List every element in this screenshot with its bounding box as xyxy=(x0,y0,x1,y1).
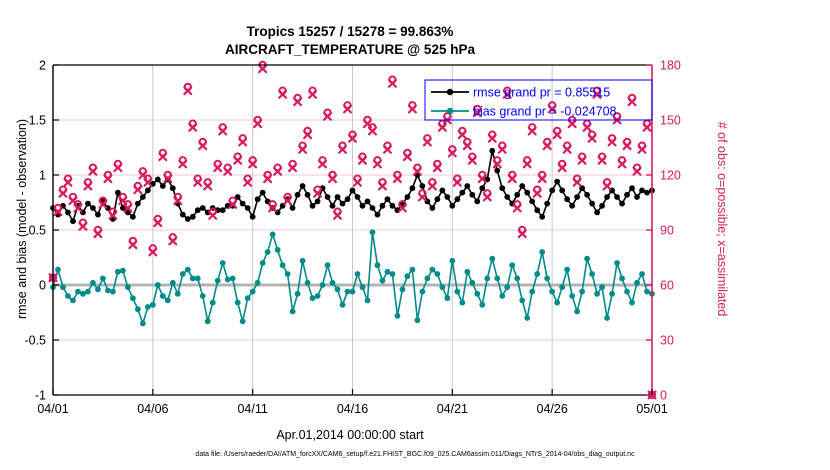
bias-point xyxy=(120,268,126,274)
bias-point xyxy=(150,302,156,308)
obs-assimilated-marker xyxy=(319,161,326,168)
obs-assimilated-marker xyxy=(339,146,346,153)
bias-point xyxy=(589,271,595,277)
rmse-point xyxy=(325,194,331,200)
bias-point xyxy=(479,302,485,308)
obs-assimilated-marker xyxy=(129,241,136,248)
rmse-point xyxy=(474,199,480,205)
rmse-point xyxy=(130,214,136,220)
rmse-point xyxy=(634,194,640,200)
bias-point xyxy=(449,258,455,264)
obs-assimilated-marker xyxy=(274,168,281,175)
legend-item-rmse-swatch-marker xyxy=(447,89,453,95)
obs-assimilated-marker xyxy=(194,179,201,186)
bias-point xyxy=(190,276,196,282)
bias-point xyxy=(514,276,520,282)
obs-assimilated-marker xyxy=(259,65,266,72)
rmse-point xyxy=(90,205,96,211)
bias-point xyxy=(260,260,266,266)
obs-assimilated-marker xyxy=(569,120,576,127)
obs-assimilated-marker xyxy=(134,186,141,193)
obs-assimilated-marker xyxy=(199,142,206,149)
y-axis-left-tick: -1 xyxy=(35,389,46,403)
obs-assimilated-marker xyxy=(419,194,426,201)
rmse-point xyxy=(335,194,341,200)
rmse-point xyxy=(380,203,386,209)
y-axis-left-tick: 1.5 xyxy=(29,114,46,128)
y-axis-left-tick: 2 xyxy=(39,59,46,73)
bias-point xyxy=(305,280,311,286)
obs-assimilated-marker xyxy=(344,106,351,113)
x-axis-tick: 04/06 xyxy=(137,402,168,416)
rmse-point xyxy=(594,210,600,216)
bias-point xyxy=(529,289,535,295)
obs-assimilated-marker xyxy=(454,179,461,186)
bias-point xyxy=(380,278,386,284)
rmse-point xyxy=(410,185,416,191)
bias-point xyxy=(270,232,276,238)
obs-assimilated-marker xyxy=(60,190,67,197)
rmse-point xyxy=(489,148,495,154)
obs-assimilated-marker xyxy=(309,91,316,98)
bias-point xyxy=(564,267,570,273)
bias-point xyxy=(80,291,86,297)
rmse-point xyxy=(375,212,381,218)
bias-point xyxy=(265,249,271,255)
bias-point xyxy=(245,295,251,301)
x-axis-tick: 04/01 xyxy=(37,402,68,416)
bias-point xyxy=(205,318,211,324)
obs-assimilated-marker xyxy=(80,223,87,230)
obs-assimilated-marker xyxy=(644,124,651,131)
obs-assimilated-marker xyxy=(364,120,371,127)
y-axis-right-tick: 150 xyxy=(660,114,681,128)
bias-point xyxy=(340,302,346,308)
obs-assimilated-marker xyxy=(159,153,166,160)
bias-point xyxy=(75,289,81,295)
obs-assimilated-marker xyxy=(514,205,521,212)
obs-assimilated-marker xyxy=(244,179,251,186)
obs-assimilated-marker xyxy=(484,194,491,201)
bias-point xyxy=(385,269,391,275)
obs-assimilated-marker xyxy=(429,183,436,190)
rmse-point xyxy=(624,192,630,198)
bias-point xyxy=(300,258,306,264)
bias-point xyxy=(330,280,336,286)
obs-assimilated-marker xyxy=(369,128,376,135)
rmse-point xyxy=(514,192,520,198)
bias-point xyxy=(315,293,321,299)
rmse-point xyxy=(220,207,226,213)
bias-point xyxy=(624,289,630,295)
bias-point xyxy=(464,269,470,275)
bias-point xyxy=(614,260,620,266)
bias-point xyxy=(325,262,331,268)
bias-point xyxy=(220,260,226,266)
obs-assimilated-marker xyxy=(609,139,616,146)
rmse-point xyxy=(554,179,560,185)
obs-assimilated-marker xyxy=(294,98,301,105)
bias-point xyxy=(414,317,420,323)
obs-assimilated-marker xyxy=(324,113,331,120)
x-axis-tick: 04/21 xyxy=(437,402,468,416)
rmse-point xyxy=(444,194,450,200)
bias-point xyxy=(424,276,430,282)
obs-assimilated-marker xyxy=(70,197,77,204)
rmse-point xyxy=(564,196,570,202)
rmse-point xyxy=(190,214,196,220)
bias-point xyxy=(459,300,465,306)
bias-point xyxy=(60,284,66,290)
obs-assimilated-marker xyxy=(154,219,161,226)
bias-point xyxy=(604,315,610,321)
rmse-point xyxy=(529,199,535,205)
rmse-point xyxy=(260,190,266,196)
bias-point xyxy=(439,284,445,290)
rmse-point xyxy=(504,194,510,200)
bias-point xyxy=(290,309,296,315)
legend-item-rmse-label: rmse grand pr = 0.85515 xyxy=(473,86,610,100)
rmse-point xyxy=(499,185,505,191)
bias-point xyxy=(350,289,356,295)
obs-assimilated-marker xyxy=(114,164,121,171)
bias-point xyxy=(85,289,91,295)
bias-point xyxy=(195,276,201,282)
rmse-point xyxy=(574,194,580,200)
bias-point xyxy=(320,282,326,288)
bias-point xyxy=(145,304,151,310)
rmse-point xyxy=(469,192,475,198)
rmse-point xyxy=(370,205,376,211)
rmse-point xyxy=(569,203,575,209)
bias-point xyxy=(569,293,575,299)
obs-assimilated-marker xyxy=(534,190,541,197)
obs-assimilated-marker xyxy=(629,98,636,105)
y-axis-right-tick: 180 xyxy=(660,59,681,73)
bias-point xyxy=(90,280,96,286)
obs-assimilated-marker xyxy=(329,175,336,182)
bias-point xyxy=(130,295,136,301)
bias-point xyxy=(534,271,540,277)
rmse-point xyxy=(355,194,361,200)
rmse-point xyxy=(479,185,485,191)
obs-assimilated-marker xyxy=(539,175,546,182)
rmse-point xyxy=(614,194,620,200)
bias-point xyxy=(110,289,116,295)
obs-assimilated-marker xyxy=(384,146,391,153)
obs-assimilated-marker xyxy=(574,179,581,186)
rmse-point xyxy=(140,194,146,200)
rmse-point xyxy=(360,203,366,209)
obs-assimilated-marker xyxy=(90,168,97,175)
rmse-point xyxy=(434,196,440,202)
rmse-point xyxy=(200,205,206,211)
rmse-point xyxy=(255,196,261,202)
bias-point xyxy=(55,267,61,273)
bias-point xyxy=(295,291,301,297)
rmse-point xyxy=(95,212,101,218)
obs-assimilated-marker xyxy=(209,212,216,219)
bias-point xyxy=(594,291,600,297)
bias-point xyxy=(255,280,261,286)
obs-assimilated-marker xyxy=(459,131,466,138)
rmse-point xyxy=(534,207,540,213)
bias-point xyxy=(185,267,191,273)
bias-point xyxy=(285,271,291,277)
rmse-point xyxy=(449,203,455,209)
rmse-point xyxy=(494,168,500,174)
bias-point xyxy=(474,291,480,297)
rmse-point xyxy=(429,205,435,211)
rmse-point xyxy=(65,210,71,216)
rmse-point xyxy=(300,183,306,189)
obs-assimilated-marker xyxy=(65,179,72,186)
rmse-point xyxy=(589,201,595,207)
bias-point xyxy=(370,229,376,235)
rmse-point xyxy=(240,201,246,207)
bias-point xyxy=(95,287,101,293)
obs-assimilated-marker xyxy=(489,135,496,142)
bias-point xyxy=(280,262,286,268)
x-axis-tick: 04/26 xyxy=(537,402,568,416)
obs-assimilated-marker xyxy=(204,183,211,190)
rmse-point xyxy=(619,201,625,207)
obs-assimilated-marker xyxy=(144,179,151,186)
obs-assimilated-marker xyxy=(239,139,246,146)
obs-assimilated-marker xyxy=(184,87,191,94)
obs-assimilated-marker xyxy=(189,124,196,131)
obs-assimilated-marker xyxy=(289,164,296,171)
y-axis-left-tick: 0 xyxy=(39,279,46,293)
rmse-point xyxy=(345,196,351,202)
obs-assimilated-marker xyxy=(469,157,476,164)
bias-point xyxy=(335,287,341,293)
rmse-point xyxy=(639,188,645,194)
rmse-point xyxy=(539,214,545,220)
obs-assimilated-marker xyxy=(409,106,416,113)
rmse-point xyxy=(519,183,525,189)
obs-assimilated-marker xyxy=(584,124,591,131)
bias-point xyxy=(499,293,505,299)
rmse-point xyxy=(524,190,530,196)
obs-assimilated-marker xyxy=(224,168,231,175)
obs-assimilated-marker xyxy=(634,168,641,175)
bias-point xyxy=(250,289,256,295)
obs-assimilated-marker xyxy=(254,120,261,127)
obs-assimilated-marker xyxy=(639,146,646,153)
obs-assimilated-marker xyxy=(279,91,286,98)
x-axis-tick: 04/11 xyxy=(237,402,267,416)
bias-point xyxy=(524,315,530,321)
bias-point xyxy=(639,271,645,277)
obs-assimilated-marker xyxy=(379,183,386,190)
bias-point xyxy=(200,293,206,299)
y-axis-left-tick: -0.5 xyxy=(24,334,46,348)
bias-point xyxy=(400,287,406,293)
bias-point xyxy=(544,276,550,282)
y-axis-right-tick: 90 xyxy=(660,224,674,238)
bias-point xyxy=(410,267,416,273)
obs-assimilated-marker xyxy=(359,157,366,164)
obs-assimilated-marker xyxy=(334,212,341,219)
rmse-point xyxy=(245,205,251,211)
obs-assimilated-marker xyxy=(389,80,396,87)
obs-assimilated-marker xyxy=(554,131,561,138)
bias-point xyxy=(504,284,510,290)
rmse-point xyxy=(310,203,316,209)
bias-point xyxy=(579,289,585,295)
rmse-point xyxy=(390,203,396,209)
y-axis-right-tick: 60 xyxy=(660,279,674,293)
obs-assimilated-marker xyxy=(564,146,571,153)
rmse-point xyxy=(340,201,346,207)
bias-point xyxy=(230,276,236,282)
rmse-point xyxy=(584,192,590,198)
bias-point xyxy=(469,280,475,286)
bias-point xyxy=(489,256,495,262)
x-axis-tick: 04/16 xyxy=(337,402,368,416)
obs-assimilated-marker xyxy=(95,230,102,237)
rmse-point xyxy=(85,201,91,207)
bias-point xyxy=(454,289,460,295)
bias-point xyxy=(215,278,221,284)
bias-point xyxy=(419,289,425,295)
obs-assimilated-marker xyxy=(559,164,566,171)
y-axis-right-tick: 0 xyxy=(660,389,667,403)
obs-assimilated-marker xyxy=(519,230,526,237)
bias-point xyxy=(634,280,640,286)
bias-point xyxy=(210,300,216,306)
bias-point xyxy=(160,293,166,299)
rmse-point xyxy=(315,199,321,205)
obs-assimilated-marker xyxy=(464,142,471,149)
rmse-point xyxy=(170,185,176,191)
bias-point xyxy=(584,256,590,262)
bias-point xyxy=(65,293,71,299)
rmse-point xyxy=(599,203,605,209)
plot-canvas: 21.510.50-0.5-1180150120906030004/0104/0… xyxy=(0,0,830,470)
rmse-point xyxy=(160,183,166,189)
obs-assimilated-marker xyxy=(214,164,221,171)
chart-figure: Tropics 15257 / 15278 = 99.863% AIRCRAFT… xyxy=(0,0,830,470)
obs-assimilated-marker xyxy=(85,183,92,190)
rmse-point xyxy=(290,205,296,211)
obs-assimilated-marker xyxy=(579,157,586,164)
obs-assimilated-marker xyxy=(524,161,531,168)
bias-point xyxy=(175,291,181,297)
bias-point xyxy=(434,271,440,277)
bias-point xyxy=(365,298,371,304)
rmse-point xyxy=(195,207,201,213)
obs-assimilated-marker xyxy=(434,164,441,171)
obs-assimilated-marker xyxy=(299,146,306,153)
bias-point xyxy=(599,284,605,290)
rmse-point xyxy=(459,190,465,196)
rmse-point xyxy=(559,188,565,194)
bias-point xyxy=(549,289,555,295)
bias-point xyxy=(225,277,231,283)
bias-point xyxy=(395,313,401,319)
obs-assimilated-marker xyxy=(619,161,626,168)
obs-assimilated-marker xyxy=(589,135,596,142)
bias-point xyxy=(100,276,106,282)
rmse-point xyxy=(350,188,356,194)
legend-item-bias[interactable]: bias grand pr = -0.024708 xyxy=(431,105,617,119)
obs-assimilated-marker xyxy=(234,157,241,164)
obs-assimilated-marker xyxy=(105,175,112,182)
obs-assimilated-marker xyxy=(439,124,446,131)
obs-assimilated-marker xyxy=(219,128,226,135)
bias-point xyxy=(429,267,435,273)
obs-assimilated-marker xyxy=(169,238,176,245)
bias-point xyxy=(609,291,615,297)
bias-point xyxy=(140,321,146,327)
bias-point xyxy=(484,276,490,282)
rmse-point xyxy=(250,214,256,220)
bias-point xyxy=(240,318,246,324)
bias-point xyxy=(310,295,316,301)
obs-assimilated-marker xyxy=(624,142,631,149)
rmse-point xyxy=(405,194,411,200)
bias-point xyxy=(574,309,580,315)
x-axis-tick: 05/01 xyxy=(636,402,667,416)
bias-point xyxy=(644,289,650,295)
bias-point xyxy=(125,284,131,290)
rmse-point xyxy=(464,183,470,189)
bias-point xyxy=(180,271,186,277)
rmse-point xyxy=(305,192,311,198)
legend-item-bias-swatch-marker xyxy=(447,108,453,114)
bias-point xyxy=(345,289,351,295)
bias-point xyxy=(554,300,560,306)
bias-point xyxy=(494,276,500,282)
obs-assimilated-marker xyxy=(599,157,606,164)
bias-point xyxy=(509,262,515,268)
obs-assimilated-marker xyxy=(509,175,516,182)
rmse-point xyxy=(439,188,445,194)
rmse-point xyxy=(135,201,141,207)
obs-assimilated-marker xyxy=(374,161,381,168)
obs-assimilated-marker xyxy=(544,142,551,149)
obs-assimilated-marker xyxy=(264,175,271,182)
rmse-point xyxy=(145,188,151,194)
rmse-point xyxy=(180,212,186,218)
obs-assimilated-marker xyxy=(529,128,536,135)
bias-point xyxy=(170,280,176,286)
y-axis-right-tick: 30 xyxy=(660,334,674,348)
rmse-point xyxy=(70,218,76,224)
legend-item-bias-label: bias grand pr = -0.024708 xyxy=(473,105,617,119)
obs-assimilated-marker xyxy=(424,139,431,146)
y-axis-right-tick: 120 xyxy=(660,169,681,183)
y-axis-left-tick: 0.5 xyxy=(29,224,46,238)
rmse-point xyxy=(385,196,391,202)
bias-point xyxy=(619,276,625,282)
obs-assimilated-marker xyxy=(354,179,361,186)
legend-item-rmse[interactable]: rmse grand pr = 0.85515 xyxy=(431,86,610,100)
bias-point xyxy=(235,300,241,306)
rmse-point xyxy=(155,177,161,183)
obs-assimilated-marker xyxy=(499,146,506,153)
obs-assimilated-marker xyxy=(304,131,311,138)
rmse-point xyxy=(365,199,371,205)
bias-point xyxy=(105,288,111,294)
bias-point xyxy=(70,298,76,304)
obs-assimilated-marker xyxy=(604,183,611,190)
rmse-point xyxy=(544,201,550,207)
rmse-point xyxy=(295,192,301,198)
bias-point xyxy=(539,249,545,255)
